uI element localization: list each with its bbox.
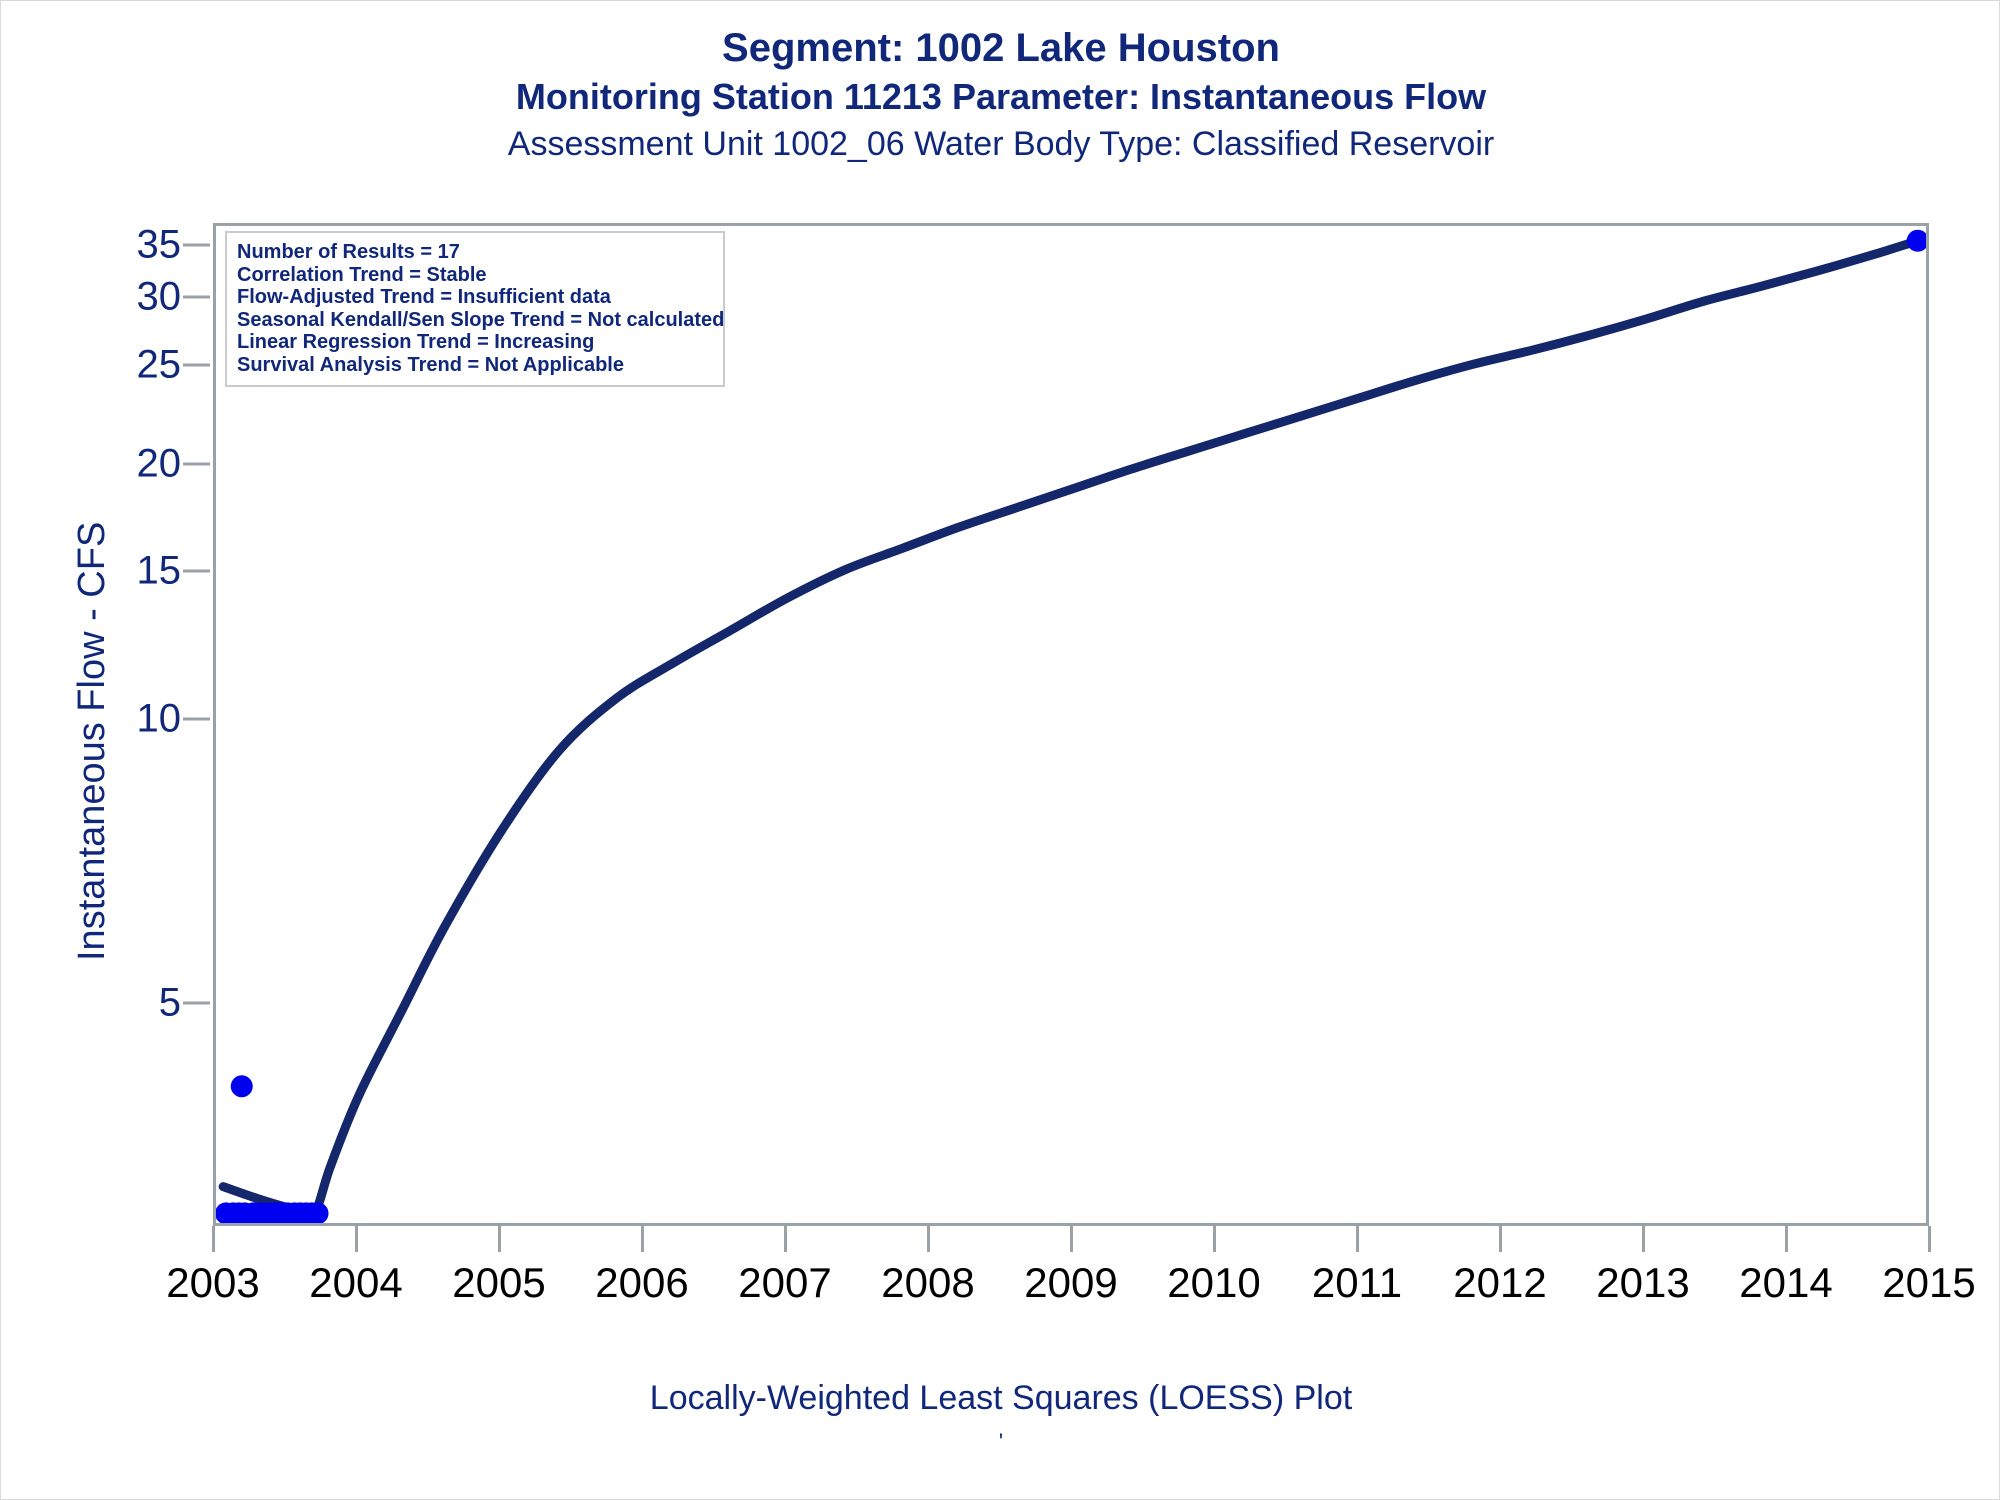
x-tick-label-2015: 2015 <box>1882 1259 1975 1307</box>
annot-line-linear-regression: Linear Regression Trend = Increasing <box>237 331 713 354</box>
annot-line-survival-analysis: Survival Analysis Trend = Not Applicable <box>237 354 713 377</box>
y-tick-label-15: 15 <box>137 549 182 594</box>
annot-line-seasonal-kendall: Seasonal Kendall/Sen Slope Trend = Not c… <box>237 309 713 332</box>
x-tick-label-2010: 2010 <box>1167 1259 1260 1307</box>
annot-line-flow-adjusted: Flow-Adjusted Trend = Insufficient data <box>237 286 713 309</box>
x-tick-label-2005: 2005 <box>452 1259 545 1307</box>
y-tick-mark-25 <box>183 364 210 367</box>
annot-line-correlation: Correlation Trend = Stable <box>237 264 713 287</box>
plot-type-caption: Locally-Weighted Least Squares (LOESS) P… <box>1 1379 2000 1418</box>
x-tick-mark-2009 <box>1070 1226 1073 1252</box>
y-tick-mark-15 <box>183 570 210 573</box>
y-tick-mark-20 <box>183 463 210 466</box>
annot-line-results: Number of Results = 17 <box>237 241 713 264</box>
x-tick-label-2012: 2012 <box>1453 1259 1546 1307</box>
y-tick-label-10: 10 <box>137 697 182 742</box>
x-tick-mark-2006 <box>641 1226 644 1252</box>
x-tick-label-2013: 2013 <box>1596 1259 1689 1307</box>
x-tick-mark-2014 <box>1785 1226 1788 1252</box>
data-point-marker <box>1907 230 1926 252</box>
chart-page: Segment: 1002 Lake Houston Monitoring St… <box>0 0 2000 1500</box>
x-tick-mark-2003 <box>212 1226 215 1252</box>
chart-subtitle-station: Monitoring Station 11213 Parameter: Inst… <box>1 73 2000 121</box>
x-tick-label-2004: 2004 <box>309 1259 402 1307</box>
y-tick-label-20: 20 <box>137 442 182 487</box>
x-tick-label-2011: 2011 <box>1312 1259 1402 1307</box>
x-tick-mark-2012 <box>1499 1226 1502 1252</box>
y-tick-label-5: 5 <box>159 981 181 1026</box>
x-tick-label-2006: 2006 <box>595 1259 688 1307</box>
y-tick-mark-35 <box>183 244 210 247</box>
data-point-marker <box>231 1075 253 1097</box>
y-tick-mark-5 <box>183 1002 210 1005</box>
chart-title-block: Segment: 1002 Lake Houston Monitoring St… <box>1 23 2000 167</box>
x-tick-mark-2005 <box>498 1226 501 1252</box>
y-tick-label-25: 25 <box>137 343 182 388</box>
y-tick-mark-10 <box>183 718 210 721</box>
x-tick-label-2008: 2008 <box>881 1259 974 1307</box>
chart-subtitle-assessment-unit: Assessment Unit 1002_06 Water Body Type:… <box>1 121 2000 167</box>
x-tick-mark-2011 <box>1356 1226 1359 1252</box>
y-tick-mark-30 <box>183 296 210 299</box>
x-tick-label-2009: 2009 <box>1024 1259 1117 1307</box>
x-tick-mark-2004 <box>355 1226 358 1252</box>
y-tick-label-35: 35 <box>137 223 182 268</box>
x-tick-label-2007: 2007 <box>738 1259 831 1307</box>
footer-mark: ' <box>1 1429 2000 1455</box>
y-tick-label-30: 30 <box>137 275 182 320</box>
y-axis-title: Instantaneous Flow - CFS <box>71 522 114 961</box>
x-tick-mark-2010 <box>1213 1226 1216 1252</box>
x-tick-label-2003: 2003 <box>166 1259 259 1307</box>
x-tick-mark-2015 <box>1928 1226 1931 1252</box>
trend-summary-box: Number of Results = 17 Correlation Trend… <box>225 231 725 387</box>
x-tick-label-2014: 2014 <box>1739 1259 1832 1307</box>
page-title: Segment: 1002 Lake Houston <box>1 23 2000 73</box>
x-tick-mark-2007 <box>784 1226 787 1252</box>
x-tick-mark-2013 <box>1642 1226 1645 1252</box>
x-tick-mark-2008 <box>927 1226 930 1252</box>
